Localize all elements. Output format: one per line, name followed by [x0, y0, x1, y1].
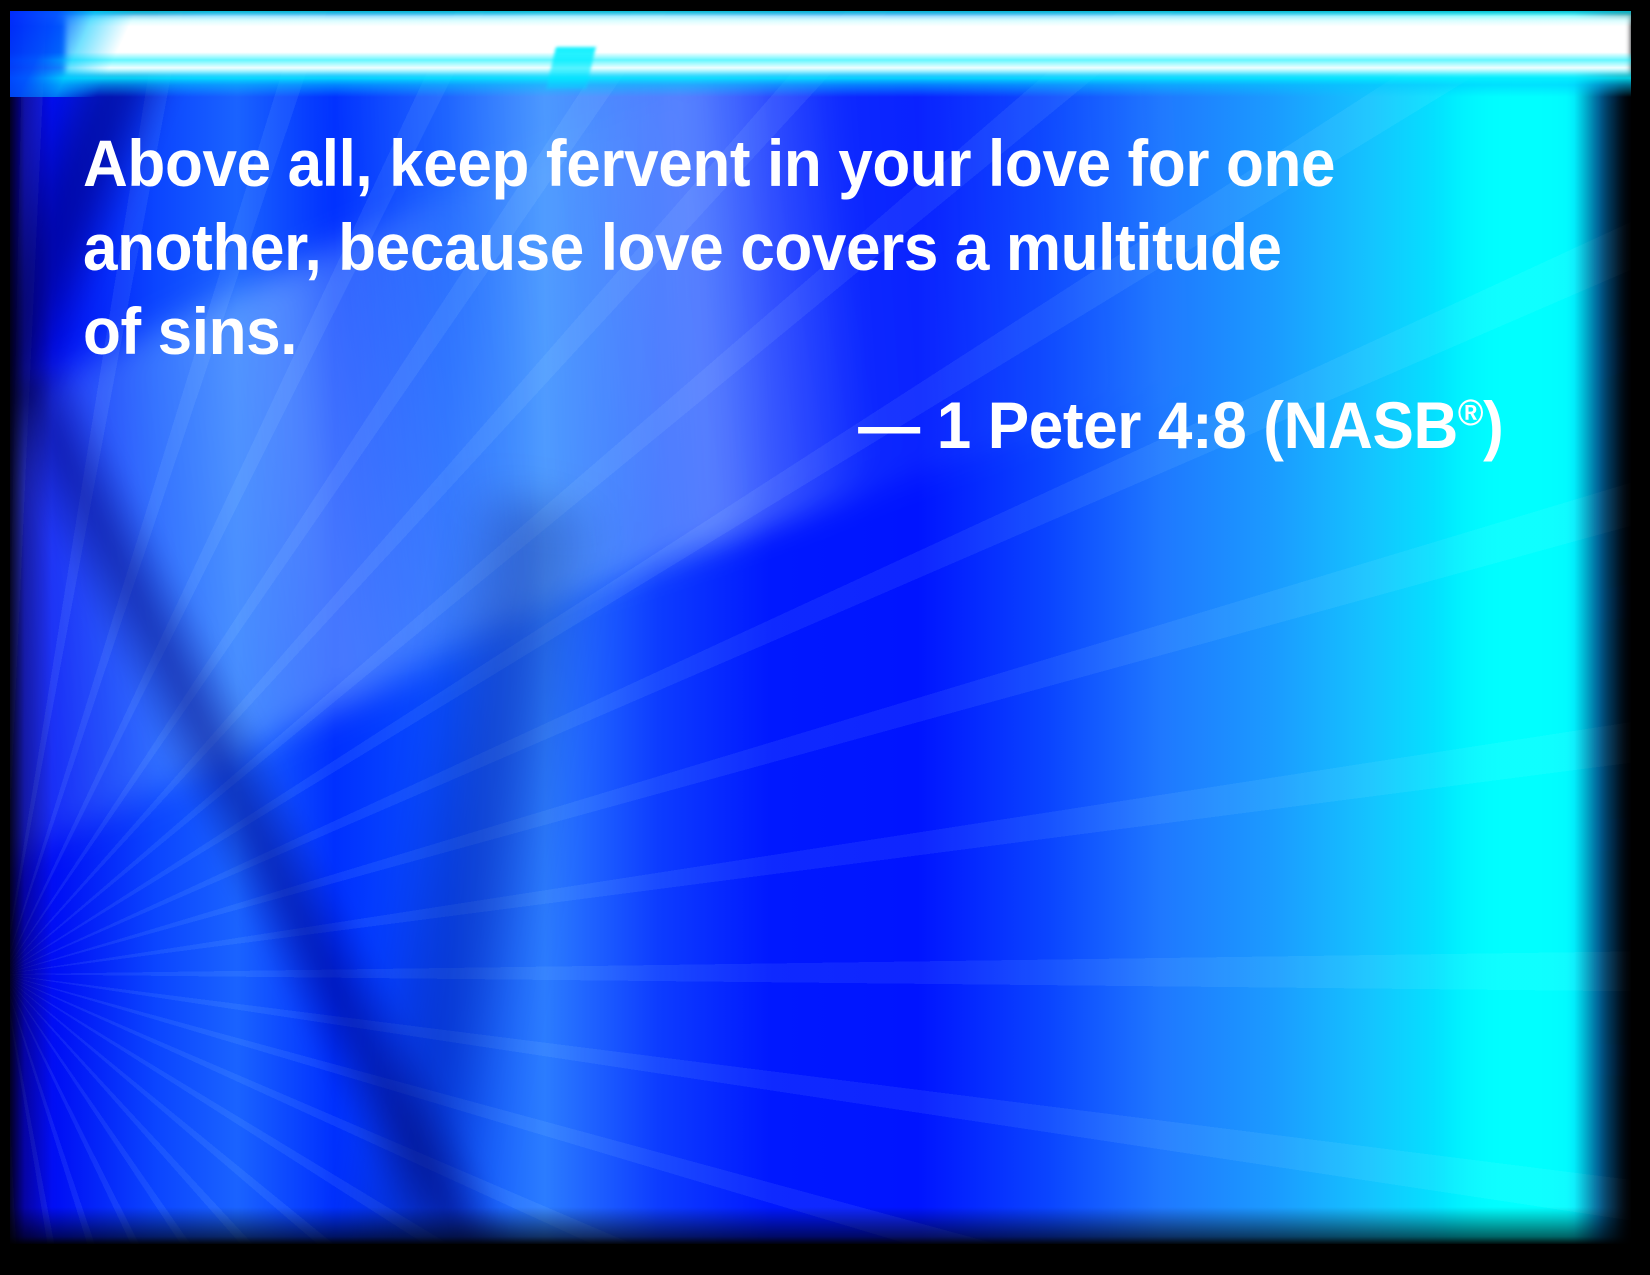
- scripture-slide: Above all, keep fervent in your love for…: [0, 0, 1650, 1275]
- slide-artwork-canvas: [10, 11, 1631, 1244]
- background-edge-vignette: [10, 11, 1631, 1244]
- top-band-left-fade: [10, 11, 156, 97]
- top-highlight-band: [10, 11, 1631, 97]
- top-band-cyan-edge: [10, 11, 1631, 97]
